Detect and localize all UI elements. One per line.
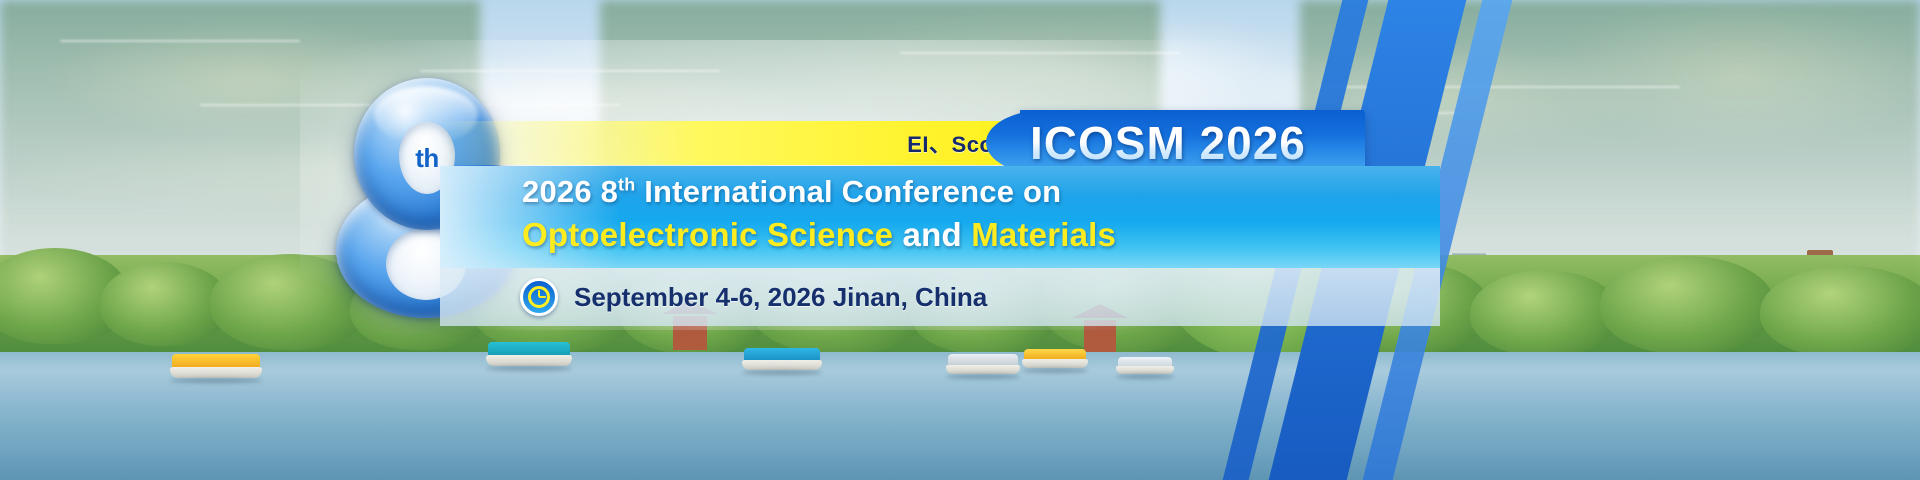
acronym-title: ICOSM 2026: [1030, 116, 1306, 170]
clock-icon: [520, 278, 558, 316]
conference-banner: th EI、Scopus ICOSM 2026 2026 8th Interna…: [0, 0, 1920, 480]
title-line-1-ordinal: th: [618, 175, 635, 195]
clock-face: [528, 286, 550, 308]
title-conjunction: and: [893, 216, 971, 253]
clock-minute-hand: [539, 296, 546, 298]
banner-text-block: EI、Scopus ICOSM 2026 2026 8th Internatio…: [0, 0, 1920, 480]
title-band: 2026 8th International Conference on Opt…: [440, 166, 1440, 268]
title-line-1: 2026 8th International Conference on: [522, 174, 1061, 210]
title-line-1-rest: International Conference on: [635, 174, 1061, 209]
title-line-2: Optoelectronic Science and Materials: [522, 216, 1116, 254]
date-location-text: September 4-6, 2026 Jinan, China: [574, 282, 987, 313]
title-line-1-prefix: 2026 8: [522, 174, 618, 209]
date-location-row: September 4-6, 2026 Jinan, China: [440, 268, 1440, 326]
title-topic-primary: Optoelectronic Science: [522, 216, 893, 253]
title-topic-secondary: Materials: [971, 216, 1116, 253]
